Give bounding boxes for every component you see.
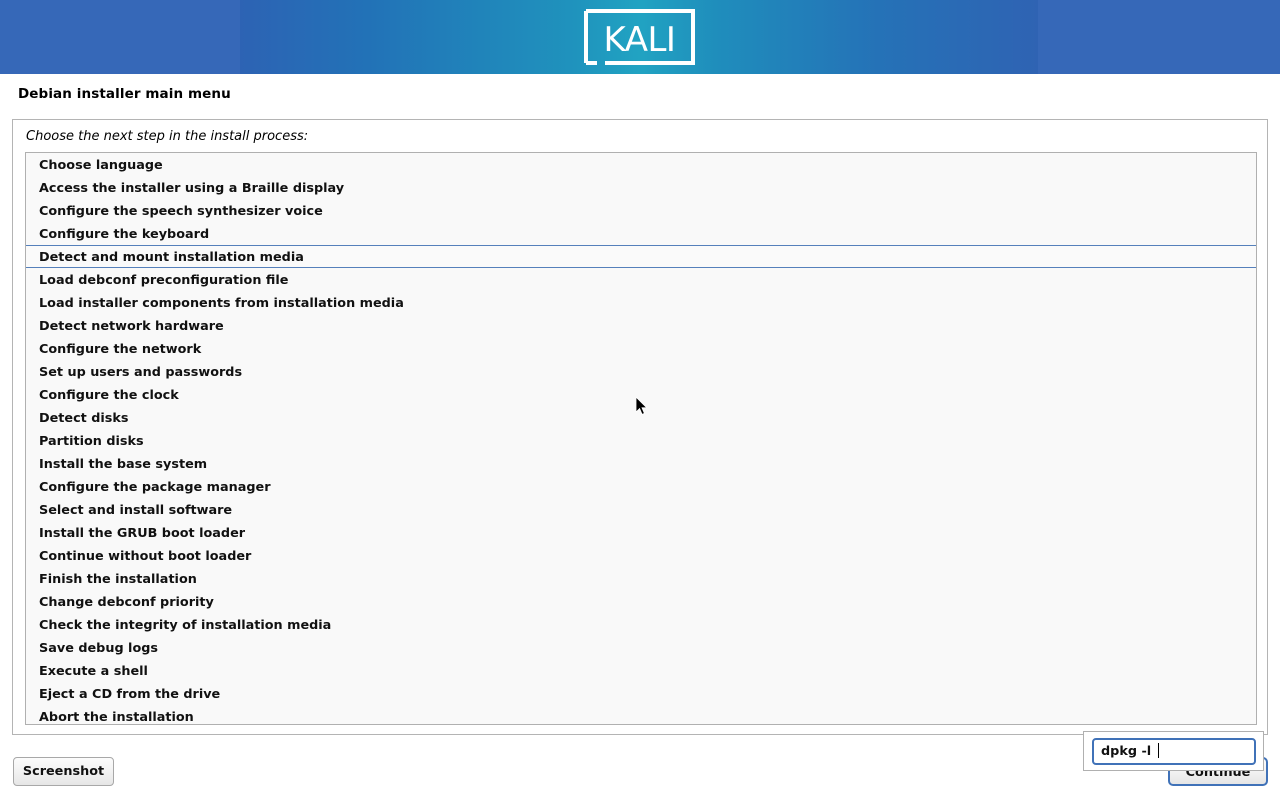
menu-item[interactable]: Install the GRUB boot loader	[26, 521, 1256, 544]
command-input-value: dpkg -l	[1101, 744, 1156, 759]
menu-item[interactable]: Execute a shell	[26, 659, 1256, 682]
text-caret	[1158, 743, 1159, 758]
menu-item[interactable]: Finish the installation	[26, 567, 1256, 590]
menu-item[interactable]: Check the integrity of installation medi…	[26, 613, 1256, 636]
command-input[interactable]: dpkg -l	[1092, 738, 1256, 765]
menu-item[interactable]: Select and install software	[26, 498, 1256, 521]
menu-item[interactable]: Configure the package manager	[26, 475, 1256, 498]
menu-item[interactable]: Configure the clock	[26, 383, 1256, 406]
prompt-label: Choose the next step in the install proc…	[26, 128, 308, 146]
menu-item[interactable]: Load installer components from installat…	[26, 291, 1256, 314]
command-input-popup: dpkg -l	[1083, 731, 1264, 771]
menu-item[interactable]: Eject a CD from the drive	[26, 682, 1256, 705]
menu-item[interactable]: Access the installer using a Braille dis…	[26, 176, 1256, 199]
menu-item[interactable]: Install the base system	[26, 452, 1256, 475]
menu-item[interactable]: Choose language	[26, 153, 1256, 176]
installer-content-frame: Choose the next step in the install proc…	[12, 119, 1268, 735]
kali-banner: KALI	[0, 0, 1280, 74]
menu-item[interactable]: Detect and mount installation media	[26, 245, 1256, 268]
menu-item[interactable]: Partition disks	[26, 429, 1256, 452]
menu-item[interactable]: Configure the network	[26, 337, 1256, 360]
menu-item[interactable]: Abort the installation	[26, 705, 1256, 725]
menu-item[interactable]: Configure the speech synthesizer voice	[26, 199, 1256, 222]
menu-item[interactable]: Configure the keyboard	[26, 222, 1256, 245]
screenshot-button[interactable]: Screenshot	[13, 757, 114, 786]
menu-item[interactable]: Detect disks	[26, 406, 1256, 429]
menu-item[interactable]: Continue without boot loader	[26, 544, 1256, 567]
menu-item[interactable]: Set up users and passwords	[26, 360, 1256, 383]
svg-text:KALI: KALI	[604, 20, 676, 60]
menu-item[interactable]: Save debug logs	[26, 636, 1256, 659]
install-step-list[interactable]: Choose languageAccess the installer usin…	[25, 152, 1257, 725]
menu-item[interactable]: Load debconf preconfiguration file	[26, 268, 1256, 291]
kali-logo: KALI	[583, 8, 696, 66]
menu-item[interactable]: Detect network hardware	[26, 314, 1256, 337]
menu-item[interactable]: Change debconf priority	[26, 590, 1256, 613]
page-title: Debian installer main menu	[18, 85, 231, 103]
